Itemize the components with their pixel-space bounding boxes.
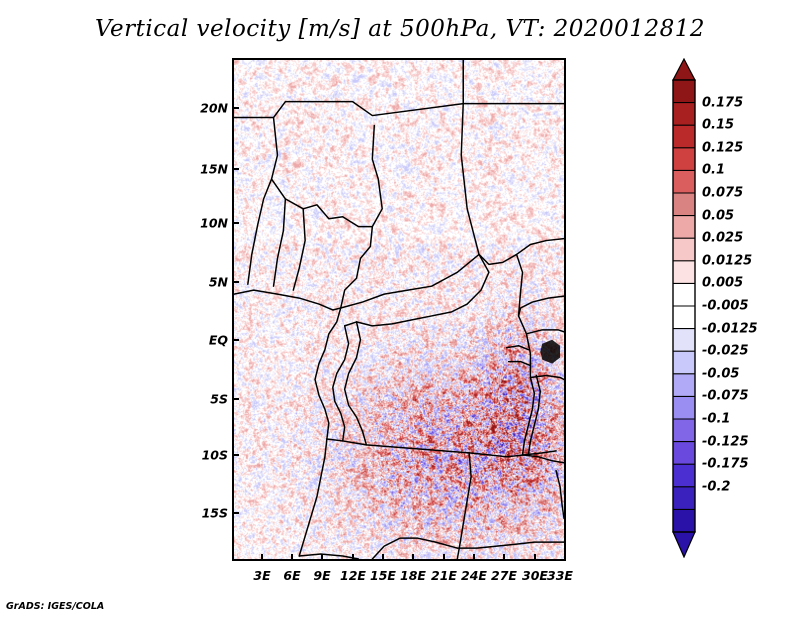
lon-tick-label-9E: 9E <box>313 568 330 583</box>
vertical-velocity-field <box>234 60 564 559</box>
lat-tick-mark-5S <box>232 398 239 400</box>
footer-credit: GrADS: IGES/COLA <box>6 601 104 612</box>
lon-tick-label-6E: 6E <box>283 568 300 583</box>
lon-tick-mark-18E <box>412 554 414 561</box>
colorbar-tick-label: -0.005 <box>702 299 749 314</box>
colorbar-tick-label: -0.0125 <box>702 321 758 336</box>
colorbar-tick-label: -0.075 <box>702 389 749 404</box>
lat-tick-label-20N: 20N <box>196 101 228 116</box>
colorbar-tick-label: -0.125 <box>702 434 749 449</box>
colorbar-tick-label: 0.175 <box>702 95 743 110</box>
colorbar-tick-label: -0.2 <box>702 479 730 494</box>
lon-tick-mark-21E <box>443 554 445 561</box>
lat-tick-label-15N: 15N <box>196 162 228 177</box>
lon-tick-mark-6E <box>291 554 293 561</box>
lat-tick-mark-20N <box>232 107 239 109</box>
colorbar-tick-label: 0.025 <box>702 231 743 246</box>
colorbar-tick-label: 0.0125 <box>702 253 752 268</box>
lat-tick-label-EQ: EQ <box>196 333 228 348</box>
lon-tick-label-33E: 33E <box>547 568 573 583</box>
lon-tick-label-27E: 27E <box>491 568 517 583</box>
colorbar-tick-label: 0.1 <box>702 163 725 178</box>
lon-tick-mark-9E <box>321 554 323 561</box>
lon-tick-mark-24E <box>473 554 475 561</box>
lat-tick-mark-10N <box>232 222 239 224</box>
colorbar-tick-label: 0.005 <box>702 276 743 291</box>
lat-tick-label-5S: 5S <box>196 392 228 407</box>
colorbar-tick-label: -0.05 <box>702 366 739 381</box>
lat-tick-label-15S: 15S <box>196 506 228 521</box>
colorbar-tick-label: 0.125 <box>702 140 743 155</box>
lat-tick-mark-15S <box>232 512 239 514</box>
colorbar-tick-label: -0.1 <box>702 412 730 427</box>
colorbar-tick-label: 0.15 <box>702 118 734 133</box>
lat-tick-mark-15N <box>232 168 239 170</box>
lat-tick-label-10N: 10N <box>196 216 228 231</box>
lat-tick-mark-EQ <box>232 339 239 341</box>
colorbar-tick-label: 0.075 <box>702 186 743 201</box>
lon-tick-mark-15E <box>382 554 384 561</box>
lat-tick-mark-5N <box>232 281 239 283</box>
lon-tick-label-24E: 24E <box>461 568 487 583</box>
lon-tick-mark-12E <box>352 554 354 561</box>
map-plot-area[interactable] <box>232 58 566 561</box>
lon-tick-label-15E: 15E <box>370 568 396 583</box>
lat-tick-label-5N: 5N <box>196 275 228 290</box>
colorbar-swatches <box>669 58 703 558</box>
colorbar-tick-label: 0.05 <box>702 208 734 223</box>
lat-tick-mark-10S <box>232 454 239 456</box>
lon-tick-label-18E: 18E <box>400 568 426 583</box>
page-title: Vertical velocity [m/s] at 500hPa, VT: 2… <box>0 16 800 42</box>
lon-tick-label-30E: 30E <box>522 568 548 583</box>
colorbar[interactable]: 0.1750.150.1250.10.0750.050.0250.01250.0… <box>669 58 799 558</box>
colorbar-tick-label: -0.175 <box>702 457 749 472</box>
lon-tick-label-12E: 12E <box>340 568 366 583</box>
lon-tick-mark-33E <box>564 554 566 561</box>
lon-tick-label-21E: 21E <box>431 568 457 583</box>
lon-tick-mark-27E <box>503 554 505 561</box>
lon-tick-mark-3E <box>261 554 263 561</box>
lon-tick-mark-30E <box>534 554 536 561</box>
lat-tick-label-10S: 10S <box>196 448 228 463</box>
colorbar-tick-label: -0.025 <box>702 344 749 359</box>
lon-tick-label-3E: 3E <box>253 568 270 583</box>
